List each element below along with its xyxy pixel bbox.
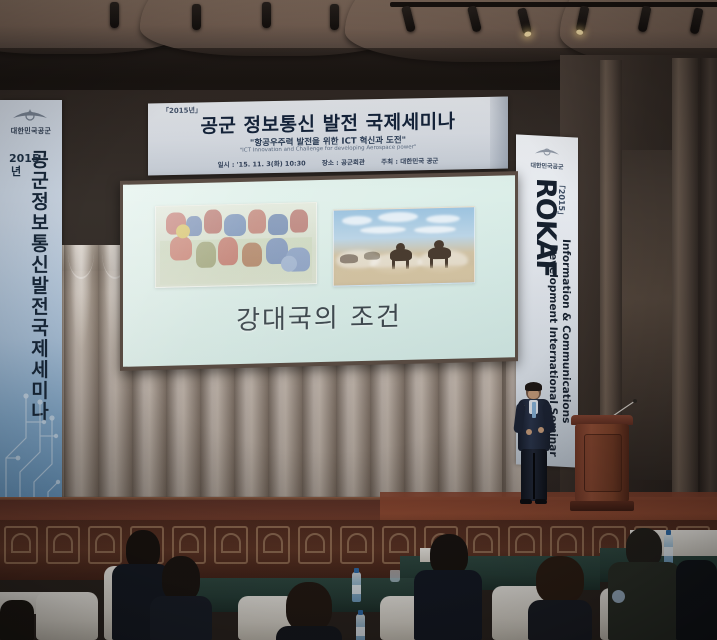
speaker-leg-gap bbox=[533, 453, 535, 499]
water-bottle bbox=[352, 572, 361, 602]
spotlight-icon bbox=[330, 4, 339, 30]
podium-body bbox=[575, 424, 629, 502]
person-body bbox=[676, 560, 717, 640]
left-vertical-banner: 대한민국공군 2015년 공군 정보통신발전 국제세미나 bbox=[0, 100, 62, 512]
person-body bbox=[0, 600, 34, 640]
podium-panel bbox=[584, 434, 622, 492]
person-head bbox=[536, 556, 584, 604]
projection-screen: 강대국의 조건 bbox=[123, 175, 515, 367]
lighting-track bbox=[390, 2, 717, 7]
wall-column bbox=[672, 58, 698, 528]
audience-person bbox=[524, 556, 594, 640]
spotlight-icon bbox=[262, 2, 271, 28]
wall-column bbox=[700, 58, 717, 528]
slide-image-riders bbox=[333, 206, 475, 286]
projection-screen-frame: 강대국의 조건 bbox=[120, 171, 518, 371]
slide-title: 강대국의 조건 bbox=[123, 293, 515, 340]
right-banner-line1: Information & Communications bbox=[560, 239, 572, 424]
main-event-banner: 「2015년」 공군 정보통신 발전 국제세미나 "항공우주력 발전을 위한 I… bbox=[148, 97, 508, 176]
person-body bbox=[150, 596, 212, 640]
spotlight-icon bbox=[192, 4, 201, 30]
person-body bbox=[528, 600, 592, 640]
speaker-left-shoe bbox=[520, 499, 532, 504]
spotlight-icon bbox=[110, 2, 119, 28]
speaker-hair bbox=[525, 382, 542, 391]
conference-photo-scene: 대한민국공군 2015년 공군 정보통신발전 국제세미나 「2015년」 공군 … bbox=[0, 0, 717, 640]
right-banner-org: 대한민국공군 bbox=[524, 160, 570, 171]
circuit-pattern-icon bbox=[0, 362, 62, 512]
audience-person bbox=[414, 534, 482, 640]
audience-person bbox=[276, 582, 342, 640]
drinking-glass bbox=[390, 570, 400, 582]
speaker-left-hand bbox=[526, 429, 532, 435]
water-bottle bbox=[356, 614, 365, 640]
banner-datetime: 일시 : '15. 11. 3(화) 10:30 bbox=[218, 159, 306, 169]
banner-edge-shadow bbox=[490, 97, 508, 169]
person-body bbox=[276, 626, 342, 640]
speaker-right-shoe bbox=[535, 499, 547, 504]
rokaf-emblem-icon bbox=[532, 142, 562, 161]
banner-info-line: 일시 : '15. 11. 3(화) 10:30 장소 : 공군회관 주최 : … bbox=[148, 154, 508, 171]
uniform-shoulder-patch bbox=[612, 590, 625, 603]
rokaf-emblem-icon bbox=[9, 104, 51, 126]
audience-chair bbox=[36, 592, 98, 640]
audience-person bbox=[0, 600, 34, 640]
banner-host: 주최 : 대한민국 공군 bbox=[381, 157, 438, 166]
audience-person bbox=[676, 560, 717, 640]
left-banner-year: 2015년 bbox=[9, 152, 23, 178]
left-banner-org: 대한민국공군 bbox=[6, 126, 56, 136]
podium-base bbox=[570, 501, 634, 511]
banner-place: 장소 : 공군회관 bbox=[322, 158, 365, 167]
person-body bbox=[414, 570, 482, 640]
podium bbox=[573, 415, 631, 513]
audience-person-officer bbox=[608, 528, 680, 640]
speaker-presenter bbox=[513, 383, 555, 515]
slide-image-battle bbox=[155, 202, 317, 288]
speaker-right-hand bbox=[538, 427, 544, 433]
audience-person bbox=[150, 556, 212, 640]
speaker-necktie bbox=[532, 402, 536, 418]
person-head bbox=[286, 582, 332, 632]
